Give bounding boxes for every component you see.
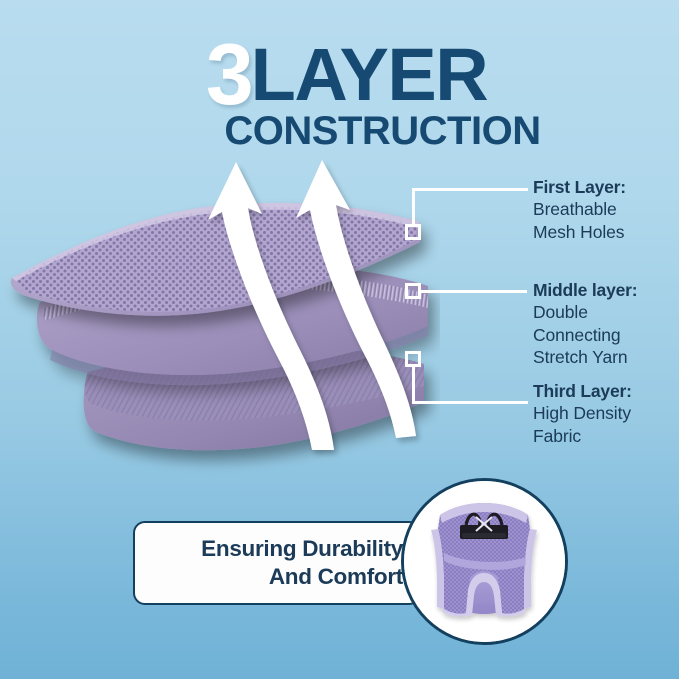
layer-1-connector-horizontal xyxy=(412,188,528,191)
label-first-layer: First Layer: Breathable Mesh Holes xyxy=(533,176,679,243)
label-first-layer-title: First Layer: xyxy=(533,176,679,198)
title-subtitle: CONSTRUCTION xyxy=(0,111,679,151)
layer-1-connector-vertical xyxy=(412,188,415,226)
product-image-circle xyxy=(401,478,568,645)
dog-harness-illustration xyxy=(404,481,565,642)
label-middle-layer-body: Double Connecting Stretch Yarn xyxy=(533,301,679,368)
layer-2-marker xyxy=(405,283,421,299)
layer-3-connector-horizontal xyxy=(412,401,528,404)
tagline-callout-box: Ensuring Durability And Comfort xyxy=(133,521,421,605)
layer-3-connector-vertical xyxy=(412,365,415,404)
title-word: LAYER xyxy=(251,33,488,116)
page-title: 3LAYER CONSTRUCTION xyxy=(0,36,679,151)
label-middle-layer: Middle layer: Double Connecting Stretch … xyxy=(533,279,679,369)
label-third-layer-body: High Density Fabric xyxy=(533,402,679,447)
label-third-layer: Third Layer: High Density Fabric xyxy=(533,380,679,447)
title-number: 3 xyxy=(206,27,251,123)
tagline-text: Ensuring Durability And Comfort xyxy=(201,535,419,592)
infographic-poster: 3LAYER CONSTRUCTION xyxy=(0,0,679,679)
layer-1-marker xyxy=(405,224,421,240)
harness-body xyxy=(431,503,537,616)
label-third-layer-title: Third Layer: xyxy=(533,380,679,402)
title-main-row: 3LAYER xyxy=(0,36,679,115)
layer-2-connector-horizontal xyxy=(421,290,527,293)
label-first-layer-body: Breathable Mesh Holes xyxy=(533,198,679,243)
label-middle-layer-title: Middle layer: xyxy=(533,279,679,301)
fabric-layers-illustration xyxy=(0,150,440,490)
